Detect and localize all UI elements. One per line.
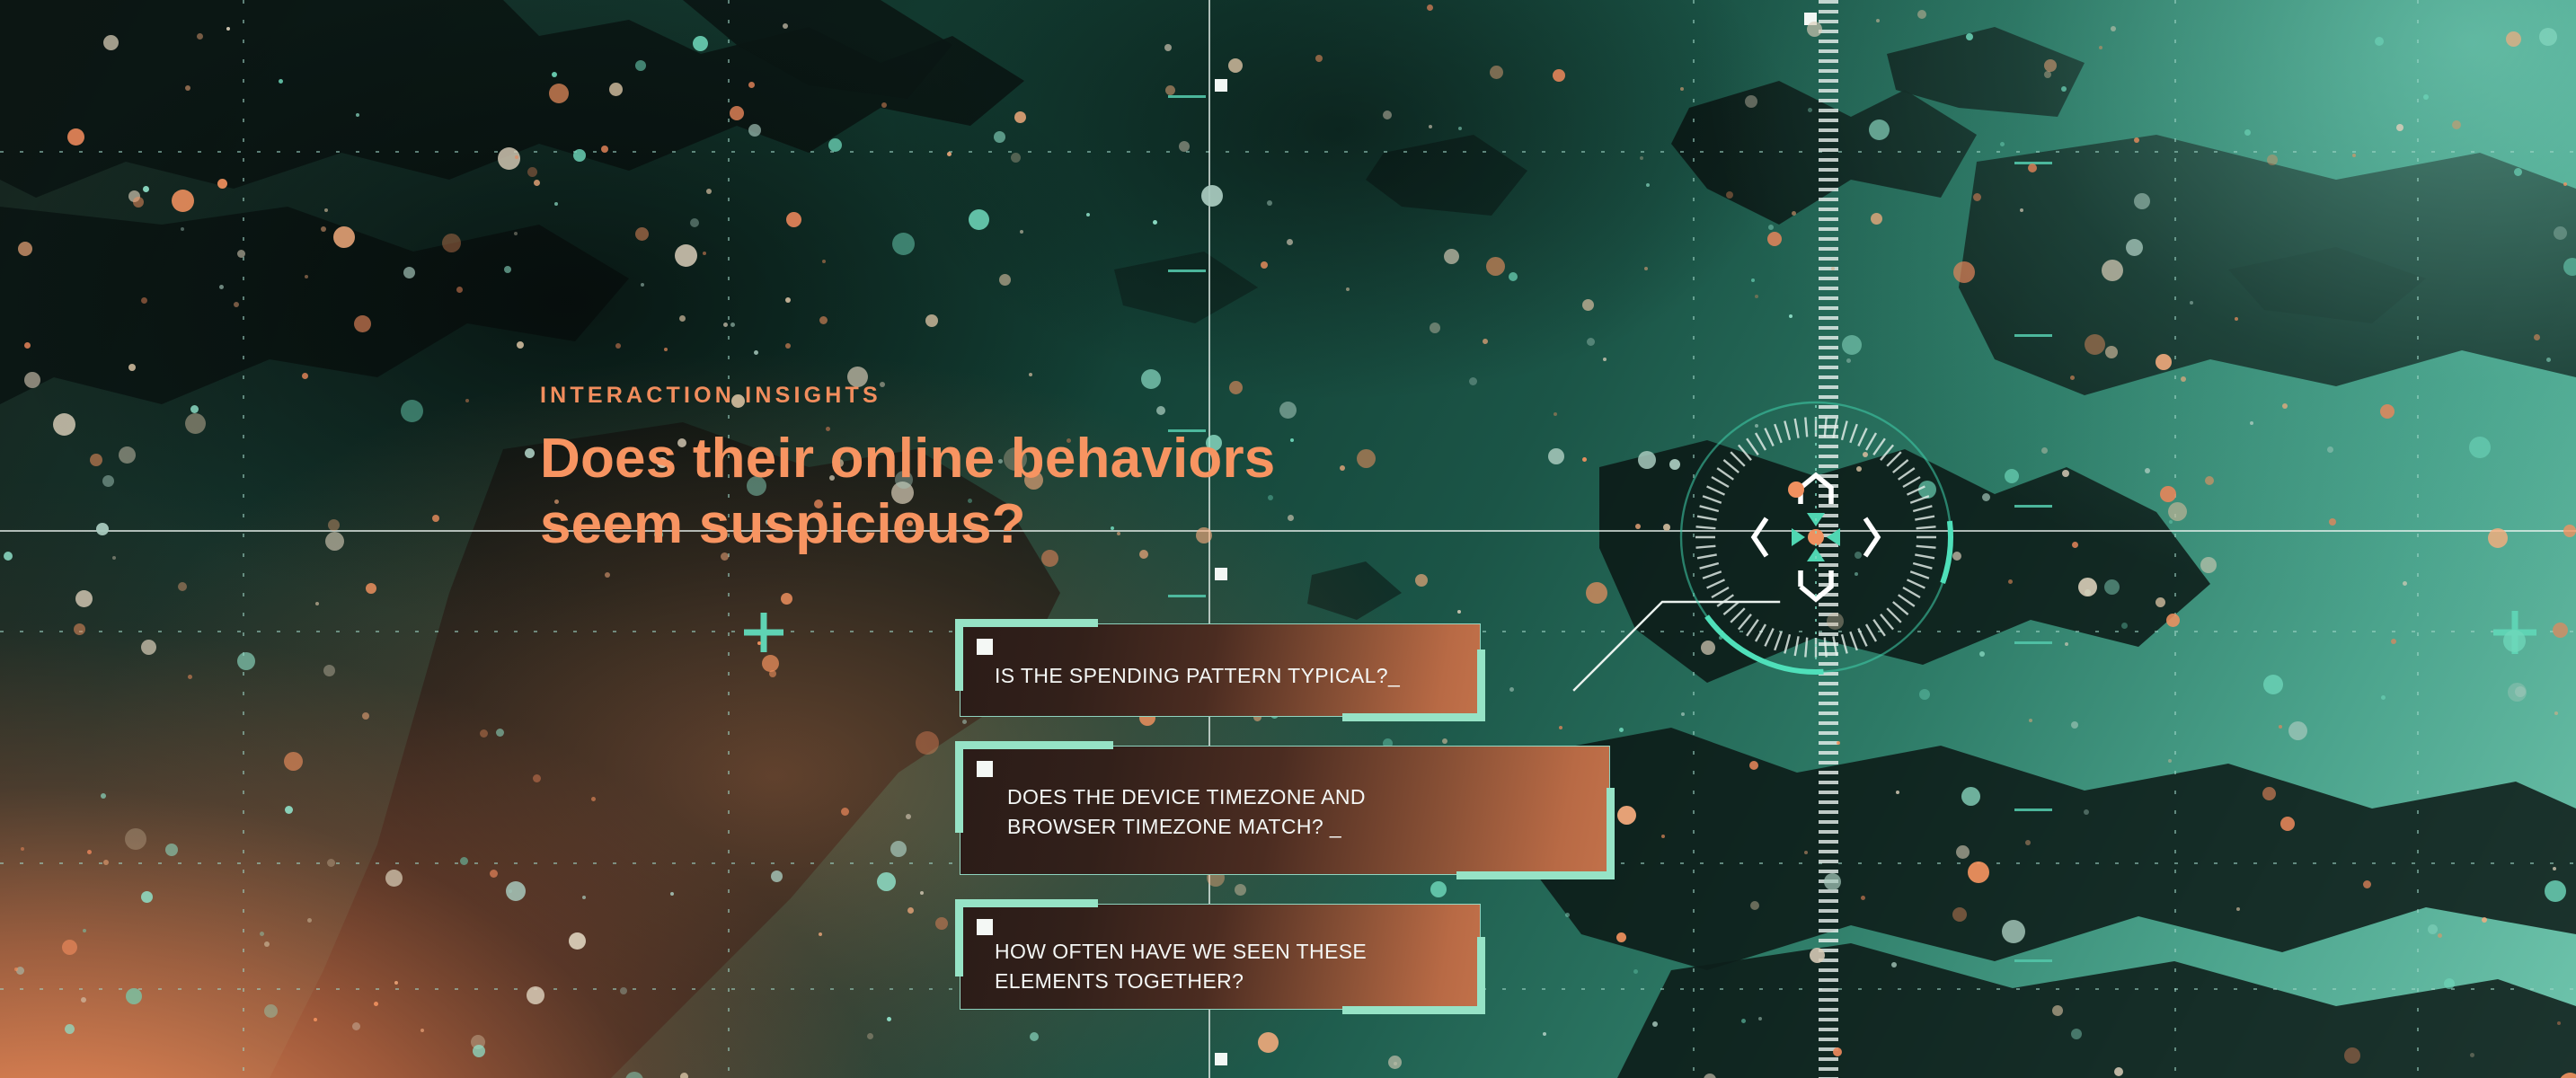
particle-dot bbox=[1807, 22, 1822, 37]
particle-dot bbox=[285, 806, 293, 814]
particle-dot bbox=[549, 84, 569, 103]
particle-dot bbox=[916, 731, 939, 755]
particle-dot bbox=[2070, 376, 2075, 380]
particle-dot bbox=[366, 583, 376, 594]
particle-dot bbox=[2554, 226, 2567, 240]
particle-dot bbox=[2190, 301, 2193, 305]
particle-dot bbox=[2200, 557, 2217, 573]
particle-dot bbox=[2563, 182, 2567, 186]
particle-dot bbox=[2008, 579, 2013, 584]
particle-dot bbox=[1961, 787, 1980, 806]
particle-dot bbox=[1586, 582, 1607, 604]
card-question-text: HOW OFTEN HAVE WE SEEN THESE ELEMENTS TO… bbox=[995, 937, 1367, 995]
insight-card[interactable]: DOES THE DEVICE TIMEZONE AND BROWSER TIM… bbox=[960, 746, 1610, 875]
particle-dot bbox=[2557, 1021, 2561, 1025]
particle-dot bbox=[1982, 493, 1990, 501]
particle-dot bbox=[2428, 924, 2438, 934]
particle-dot bbox=[119, 446, 136, 464]
particle-dot bbox=[2244, 129, 2251, 136]
particle-dot bbox=[1179, 141, 1190, 152]
particle-dot bbox=[1261, 261, 1268, 269]
particle-dot bbox=[730, 106, 744, 120]
particle-dot bbox=[1973, 193, 1981, 201]
particle-dot bbox=[185, 85, 190, 91]
particle-dot bbox=[217, 179, 227, 189]
particle-dot bbox=[1741, 1019, 1746, 1023]
particle-dot bbox=[219, 285, 224, 289]
particle-dot bbox=[2396, 124, 2403, 131]
particle-dot bbox=[819, 316, 828, 324]
particle-dot bbox=[2508, 683, 2527, 702]
particle-dot bbox=[18, 242, 32, 256]
particle-dot bbox=[994, 131, 1005, 143]
particle-dot bbox=[2545, 880, 2566, 902]
particle-dot bbox=[1287, 239, 1293, 245]
particle-dot bbox=[1966, 33, 1973, 40]
particle-dot bbox=[14, 968, 18, 971]
particle-dot bbox=[534, 180, 540, 186]
page-title: Does their online behaviors seem suspici… bbox=[540, 427, 1349, 557]
particle-dot bbox=[504, 266, 511, 273]
particle-dot bbox=[1357, 449, 1376, 468]
particle-dot bbox=[1652, 1021, 1658, 1027]
particle-dot bbox=[2391, 639, 2396, 644]
particle-dot bbox=[1758, 1017, 1762, 1021]
particle-dot bbox=[2041, 447, 2048, 454]
particle-dot bbox=[690, 218, 699, 227]
card-accent-bottom bbox=[1342, 1006, 1482, 1014]
particle-dot bbox=[442, 234, 461, 252]
particle-dot bbox=[517, 341, 524, 349]
particle-dot bbox=[1554, 412, 1557, 416]
particle-dot bbox=[527, 167, 537, 177]
particle-dot bbox=[887, 1017, 891, 1021]
particle-dot bbox=[525, 448, 535, 458]
particle-dot bbox=[2280, 817, 2295, 831]
particle-dot bbox=[1165, 85, 1175, 95]
insight-card[interactable]: HOW OFTEN HAVE WE SEEN THESE ELEMENTS TO… bbox=[960, 904, 1481, 1010]
particle-dot bbox=[1415, 574, 1428, 587]
particle-dot bbox=[1388, 1056, 1402, 1069]
particle-dot bbox=[1267, 200, 1272, 206]
card-accent-bottom bbox=[1342, 713, 1482, 721]
particle-dot bbox=[2168, 502, 2187, 521]
particle-dot bbox=[1810, 948, 1825, 963]
particle-dot bbox=[1587, 338, 1595, 346]
particle-dot bbox=[1768, 225, 1774, 230]
particle-dot bbox=[2002, 920, 2025, 943]
particle-dot bbox=[867, 1033, 873, 1039]
particle-dot bbox=[103, 35, 119, 50]
particle-dot bbox=[2028, 163, 2037, 172]
particle-dot bbox=[2102, 260, 2123, 281]
particle-dot bbox=[2503, 630, 2526, 652]
particle-dot bbox=[2327, 446, 2333, 453]
targeting-reticle-hud[interactable] bbox=[1677, 398, 1955, 676]
particle-dot bbox=[1020, 230, 1023, 234]
particle-dot bbox=[573, 149, 586, 162]
particle-dot bbox=[841, 808, 849, 816]
particle-dot bbox=[284, 752, 303, 771]
particle-dot bbox=[315, 602, 319, 605]
particle-dot bbox=[314, 1018, 317, 1021]
particle-dot bbox=[506, 881, 526, 901]
card-accent-left bbox=[955, 899, 963, 976]
particle-dot bbox=[2438, 933, 2442, 938]
particle-dot bbox=[333, 226, 355, 248]
particle-dot bbox=[2072, 542, 2078, 548]
particle-dot bbox=[582, 896, 586, 899]
particle-dot bbox=[327, 859, 335, 867]
particle-dot bbox=[2236, 907, 2240, 911]
particle-dot bbox=[2071, 1029, 2082, 1039]
particle-dot bbox=[2020, 208, 2023, 212]
particle-dot bbox=[2263, 675, 2283, 694]
particle-dot bbox=[1603, 358, 1607, 361]
particle-dot bbox=[2062, 470, 2069, 477]
particle-dot bbox=[2205, 476, 2214, 485]
particle-dot bbox=[1804, 851, 1808, 854]
particle-dot bbox=[1808, 108, 1812, 112]
particle-dot bbox=[65, 1024, 75, 1034]
particle-dot bbox=[2029, 719, 2032, 722]
status-square-icon bbox=[977, 919, 993, 935]
particle-dot bbox=[2085, 334, 2105, 355]
particle-dot bbox=[103, 860, 109, 865]
particle-dot bbox=[1896, 791, 1899, 794]
particle-dot bbox=[907, 907, 914, 914]
particle-dot bbox=[2482, 917, 2487, 923]
status-square-icon bbox=[977, 761, 993, 777]
particle-dot bbox=[1837, 741, 1840, 745]
particle-dot bbox=[1979, 651, 1985, 657]
particle-dot bbox=[328, 519, 340, 531]
particle-dot bbox=[969, 209, 989, 230]
particle-dot bbox=[1824, 873, 1841, 890]
particle-dot bbox=[96, 523, 109, 535]
particle-dot bbox=[1086, 213, 1090, 216]
particle-dot bbox=[307, 918, 312, 923]
particle-dot bbox=[1917, 10, 1926, 19]
particle-dot bbox=[2078, 578, 2097, 596]
particle-dot bbox=[2553, 623, 2568, 638]
particle-dot bbox=[1548, 448, 1564, 464]
particle-dot bbox=[87, 850, 92, 854]
particle-dot bbox=[2352, 154, 2356, 157]
particle-dot bbox=[785, 343, 791, 349]
particle-dot bbox=[2156, 597, 2165, 607]
particle-dot bbox=[456, 287, 463, 293]
particle-dot bbox=[1486, 257, 1505, 276]
particle-dot bbox=[102, 475, 114, 487]
particle-dot bbox=[2444, 978, 2455, 989]
particle-dot bbox=[2134, 193, 2150, 209]
particle-dot bbox=[723, 323, 728, 327]
particle-dot bbox=[2506, 31, 2521, 47]
particle-dot bbox=[403, 267, 415, 278]
insight-card-list: IS THE SPENDING PATTERN TYPICAL?_ DOES T… bbox=[960, 623, 1610, 1038]
particle-dot bbox=[730, 323, 735, 327]
particle-dot bbox=[178, 582, 187, 591]
particle-dot bbox=[1014, 111, 1026, 123]
particle-dot bbox=[1490, 66, 1503, 79]
particle-dot bbox=[1619, 728, 1624, 732]
particle-dot bbox=[1661, 835, 1665, 838]
particle-dot bbox=[305, 275, 308, 278]
particle-dot bbox=[1633, 969, 1638, 974]
particle-dot bbox=[67, 128, 84, 146]
particle-dot bbox=[1833, 1047, 1842, 1056]
particle-dot bbox=[226, 27, 230, 31]
particle-dot bbox=[74, 623, 85, 635]
particle-dot bbox=[141, 297, 147, 304]
particle-dot bbox=[2052, 1005, 2063, 1016]
particle-dot bbox=[2534, 334, 2540, 340]
particle-dot bbox=[1755, 295, 1758, 298]
particle-dot bbox=[1469, 377, 1477, 385]
particle-dot bbox=[635, 60, 646, 71]
particle-dot bbox=[1640, 156, 1643, 160]
particle-dot bbox=[190, 405, 199, 413]
particle-dot bbox=[1553, 69, 1565, 82]
particle-dot bbox=[2344, 1047, 2360, 1064]
particle-dot bbox=[1663, 524, 1670, 531]
particle-dot bbox=[1745, 95, 1757, 108]
particle-dot bbox=[83, 929, 86, 932]
particle-dot bbox=[2235, 317, 2238, 321]
particle-dot bbox=[1876, 19, 1880, 22]
card-accent-left bbox=[955, 619, 963, 691]
particle-dot bbox=[2375, 37, 2384, 46]
particle-dot bbox=[4, 552, 13, 561]
particle-dot bbox=[112, 556, 116, 560]
particle-dot bbox=[197, 33, 203, 40]
card-accent-right bbox=[1477, 649, 1485, 721]
particle-dot bbox=[2250, 421, 2253, 425]
particle-dot bbox=[260, 932, 264, 936]
particle-dot bbox=[24, 372, 40, 388]
particle-dot bbox=[786, 212, 801, 227]
particle-dot bbox=[460, 857, 468, 865]
particle-dot bbox=[999, 274, 1011, 286]
particle-dot bbox=[1582, 299, 1594, 311]
particle-dot bbox=[2169, 520, 2173, 524]
particle-dot bbox=[1952, 907, 1967, 922]
particle-dot bbox=[1704, 1074, 1716, 1078]
particle-dot bbox=[2553, 867, 2556, 870]
particle-dot bbox=[185, 413, 206, 434]
particle-dot bbox=[1789, 314, 1793, 318]
particle-dot bbox=[1429, 125, 1432, 128]
particle-dot bbox=[641, 283, 644, 287]
particle-dot bbox=[1458, 127, 1462, 130]
particle-dot bbox=[1635, 524, 1641, 529]
particle-dot bbox=[143, 186, 149, 192]
particle-dot bbox=[1383, 110, 1392, 119]
particle-dot bbox=[181, 227, 184, 231]
particle-dot bbox=[569, 932, 586, 950]
particle-dot bbox=[1861, 896, 1865, 900]
particle-dot bbox=[1164, 44, 1172, 51]
particle-dot bbox=[2381, 695, 2386, 700]
particle-dot bbox=[352, 1022, 360, 1030]
particle-dot bbox=[828, 138, 842, 152]
particle-dot bbox=[2546, 358, 2551, 362]
particle-dot bbox=[2329, 518, 2336, 526]
particle-dot bbox=[2104, 579, 2120, 595]
particle-dot bbox=[2044, 71, 2051, 78]
particle-dot bbox=[601, 146, 608, 153]
particle-dot bbox=[53, 413, 75, 436]
particle-dot bbox=[2065, 642, 2068, 646]
particle-dot bbox=[2469, 437, 2491, 458]
particle-dot bbox=[2288, 721, 2307, 740]
particle-dot bbox=[2563, 258, 2576, 276]
particle-dot bbox=[172, 190, 194, 212]
particle-dot bbox=[1681, 712, 1685, 716]
particle-dot bbox=[925, 314, 938, 327]
card-accent-top bbox=[959, 619, 1098, 627]
particle-dot bbox=[2488, 528, 2508, 548]
particle-dot bbox=[125, 828, 146, 850]
particle-dot bbox=[2423, 94, 2429, 100]
particle-dot bbox=[1842, 335, 1862, 355]
particle-dot bbox=[2134, 137, 2139, 143]
particle-dot bbox=[302, 373, 308, 379]
particle-dot bbox=[2380, 404, 2395, 419]
particle-dot bbox=[2267, 155, 2278, 165]
particle-dot bbox=[141, 891, 153, 903]
particle-dot bbox=[1430, 323, 1440, 333]
particle-dot bbox=[90, 454, 102, 466]
particle-dot bbox=[101, 793, 106, 799]
hero-text-block: INTERACTION INSIGHTS Does their online b… bbox=[540, 384, 1349, 557]
particle-dot bbox=[62, 940, 77, 955]
particle-dot bbox=[2044, 59, 2057, 72]
particle-dot bbox=[620, 987, 627, 994]
particle-dot bbox=[675, 244, 697, 267]
particle-dot bbox=[781, 593, 792, 605]
particle-dot bbox=[1919, 689, 1930, 700]
particle-dot bbox=[1509, 272, 1518, 281]
card-accent-top bbox=[959, 899, 1098, 907]
particle-dot bbox=[1767, 232, 1782, 246]
particle-dot bbox=[2114, 1067, 2123, 1076]
particle-dot bbox=[81, 997, 86, 1003]
particle-dot bbox=[2126, 239, 2143, 256]
particle-dot bbox=[625, 1072, 643, 1078]
particle-dot bbox=[21, 847, 24, 851]
particle-dot bbox=[769, 670, 776, 677]
particle-dot bbox=[1953, 261, 1975, 283]
particle-dot bbox=[1616, 932, 1626, 942]
particle-dot bbox=[1869, 119, 1890, 140]
particle-dot bbox=[2156, 354, 2172, 370]
particle-dot bbox=[1582, 457, 1587, 462]
particle-dot bbox=[527, 986, 544, 1004]
particle-dot bbox=[1751, 278, 1755, 282]
particle-dot bbox=[1792, 211, 1796, 216]
particle-dot bbox=[264, 1004, 278, 1018]
particle-dot bbox=[237, 652, 255, 670]
particle-dot bbox=[1457, 610, 1461, 614]
particle-dot bbox=[465, 399, 469, 402]
particle-dot bbox=[490, 870, 498, 878]
particle-dot bbox=[480, 729, 488, 738]
particle-dot bbox=[325, 532, 344, 551]
particle-dot bbox=[754, 350, 758, 355]
particle-dot bbox=[133, 197, 144, 208]
particle-dot bbox=[165, 844, 178, 856]
particle-dot bbox=[2554, 711, 2558, 715]
insight-card[interactable]: IS THE SPENDING PATTERN TYPICAL?_ bbox=[960, 623, 1481, 717]
particle-dot bbox=[2514, 168, 2522, 176]
particle-dot bbox=[609, 83, 623, 96]
particle-dot bbox=[881, 102, 887, 108]
particle-dot bbox=[533, 774, 541, 782]
particle-dot bbox=[1427, 4, 1433, 11]
particle-dot bbox=[591, 797, 596, 801]
particle-dot bbox=[822, 260, 826, 263]
particle-dot bbox=[2084, 809, 2089, 815]
particle-dot bbox=[615, 343, 621, 349]
particle-dot bbox=[2061, 86, 2067, 92]
particle-dot bbox=[1968, 862, 1989, 883]
particle-dot bbox=[1646, 183, 1650, 187]
particle-dot bbox=[2105, 346, 2118, 358]
particle-dot bbox=[128, 364, 136, 371]
particle-dot bbox=[1011, 153, 1021, 163]
particle-dot bbox=[321, 226, 326, 232]
particle-dot bbox=[1483, 339, 1488, 344]
particle-dot bbox=[354, 315, 371, 332]
particle-dot bbox=[324, 208, 328, 212]
particle-dot bbox=[2181, 376, 2186, 382]
status-square-icon bbox=[977, 639, 993, 655]
particle-dot bbox=[679, 315, 686, 322]
particle-dot bbox=[432, 515, 439, 522]
particle-dot bbox=[2539, 28, 2557, 46]
card-accent-bottom bbox=[1456, 871, 1611, 879]
particle-dot bbox=[2563, 525, 2576, 537]
particle-dot bbox=[2403, 581, 2407, 586]
particle-dot bbox=[1617, 806, 1636, 825]
particle-dot bbox=[2559, 1073, 2576, 1078]
particle-dot bbox=[2363, 880, 2371, 888]
particle-dot bbox=[2145, 468, 2150, 473]
particle-dot bbox=[1749, 761, 1758, 770]
particle-dot bbox=[748, 82, 755, 88]
particle-dot bbox=[935, 917, 948, 930]
particle-dot bbox=[554, 202, 558, 206]
particle-dot bbox=[877, 872, 896, 891]
particle-dot bbox=[2005, 469, 2019, 483]
particle-dot bbox=[2279, 725, 2282, 729]
particle-dot bbox=[514, 232, 518, 235]
particle-dot bbox=[141, 640, 156, 655]
particle-dot bbox=[947, 152, 952, 156]
particle-dot bbox=[1644, 267, 1648, 270]
particle-dot bbox=[664, 348, 668, 351]
particle-dot bbox=[892, 233, 915, 255]
card-accent-right bbox=[1607, 788, 1615, 879]
particle-dot bbox=[2262, 787, 2276, 800]
particle-dot bbox=[605, 572, 610, 578]
particle-dot bbox=[323, 665, 335, 676]
particle-dot bbox=[703, 252, 706, 255]
particle-dot bbox=[75, 590, 93, 607]
particle-dot bbox=[771, 870, 783, 882]
